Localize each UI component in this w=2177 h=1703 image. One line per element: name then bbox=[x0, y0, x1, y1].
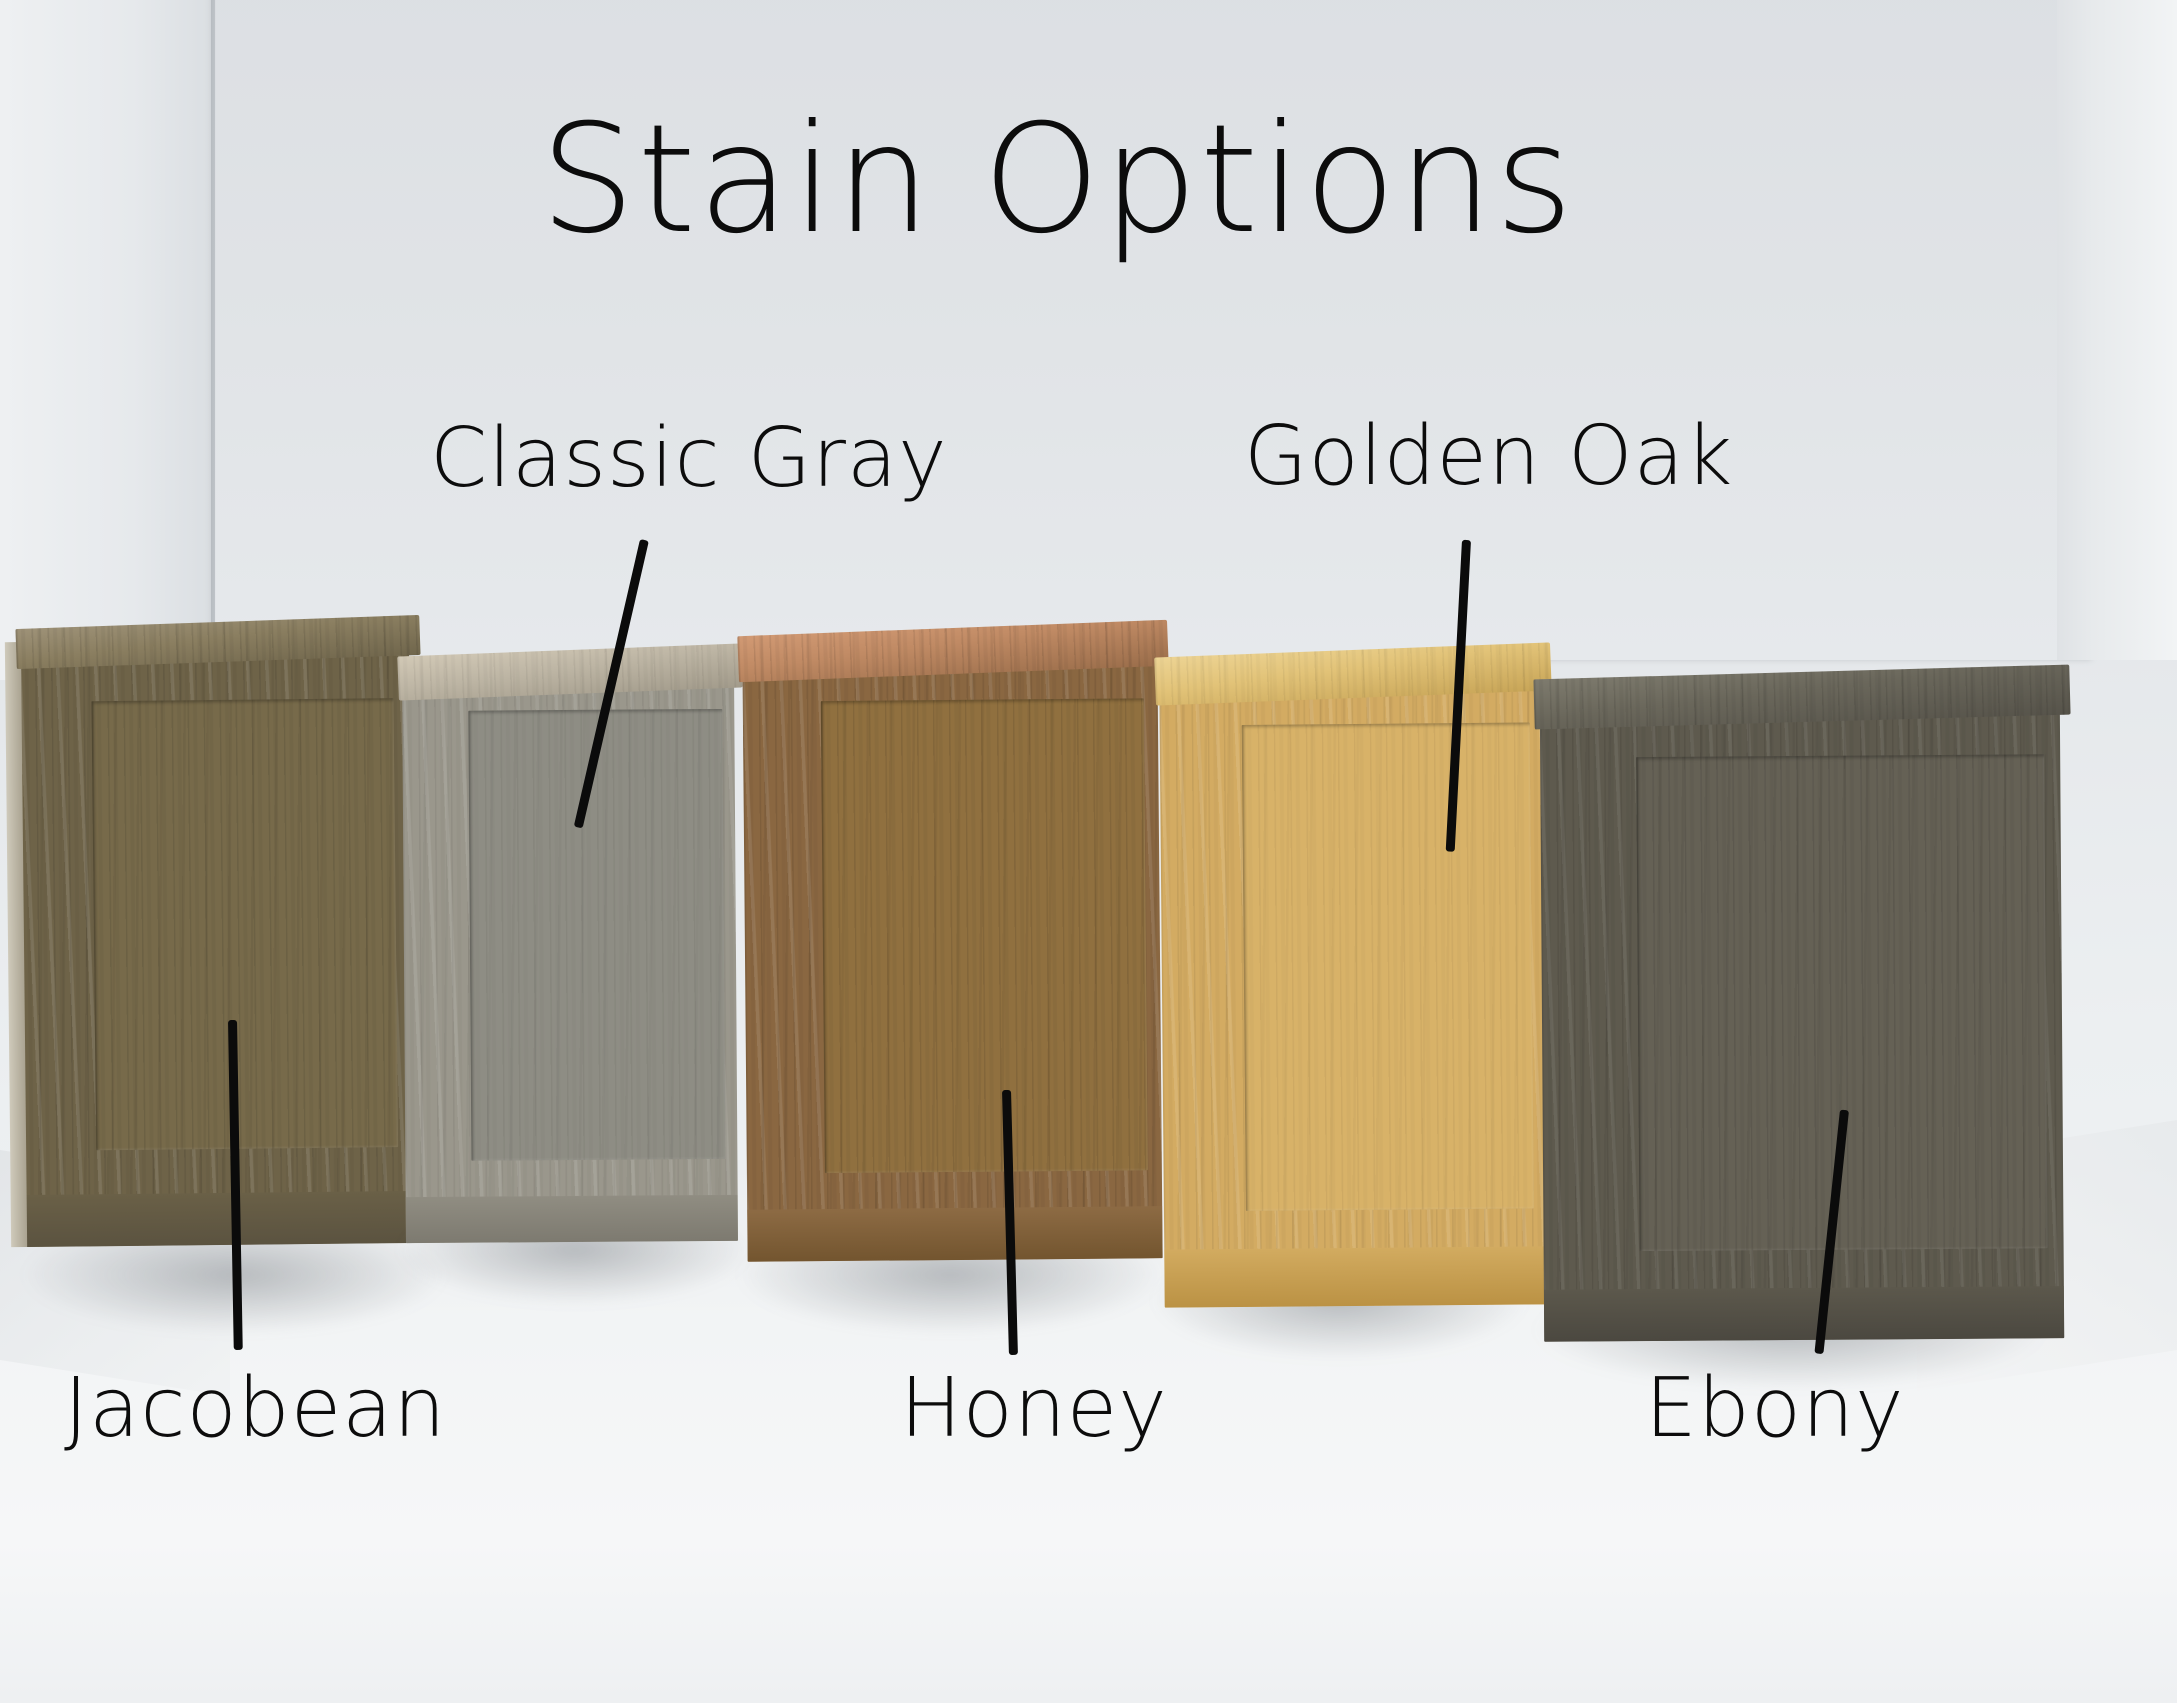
label-golden-oak: Golden Oak bbox=[1244, 416, 1733, 498]
board-frame-jacobean bbox=[19, 638, 415, 1247]
label-classic-gray: Classic Gray bbox=[430, 418, 948, 500]
board-bottom-rail-jacobean bbox=[25, 1191, 416, 1247]
board-bottom-rail-classic-gray bbox=[406, 1195, 738, 1243]
board-frame-honey bbox=[742, 650, 1162, 1262]
board-frame-classic-gray bbox=[402, 671, 738, 1243]
page-title: Stain Options bbox=[540, 105, 1575, 255]
label-jacobean: Jacobean bbox=[64, 1368, 446, 1450]
board-frame-ebony bbox=[1540, 698, 2064, 1342]
stain-options-photo: Stain Options bbox=[0, 0, 2177, 1703]
board-bottom-rail-ebony bbox=[1544, 1286, 2064, 1342]
board-panel-golden-oak bbox=[1242, 722, 1534, 1210]
panel-grain-texture bbox=[468, 709, 725, 1161]
panel-grain-texture bbox=[1242, 722, 1534, 1210]
board-bottom-rail-golden-oak bbox=[1164, 1246, 1546, 1307]
panel-grain-texture bbox=[821, 698, 1148, 1173]
sample-board-ebony[interactable] bbox=[1540, 698, 2064, 1342]
backdrop-left-wall bbox=[0, 0, 222, 680]
sample-board-golden-oak[interactable] bbox=[1159, 674, 1546, 1307]
label-ebony: Ebony bbox=[1645, 1368, 1905, 1450]
board-panel-honey bbox=[821, 698, 1148, 1173]
sample-board-honey[interactable] bbox=[742, 650, 1162, 1262]
board-bottom-rail-honey bbox=[747, 1206, 1162, 1262]
panel-grain-texture bbox=[91, 698, 398, 1150]
label-honey: Honey bbox=[900, 1368, 1168, 1450]
board-panel-jacobean bbox=[91, 698, 398, 1150]
sample-board-classic-gray[interactable] bbox=[402, 671, 738, 1243]
backdrop-right-wall bbox=[2057, 0, 2177, 660]
board-frame-golden-oak bbox=[1159, 674, 1546, 1307]
board-panel-classic-gray bbox=[468, 709, 725, 1161]
sample-board-jacobean[interactable] bbox=[19, 638, 415, 1247]
